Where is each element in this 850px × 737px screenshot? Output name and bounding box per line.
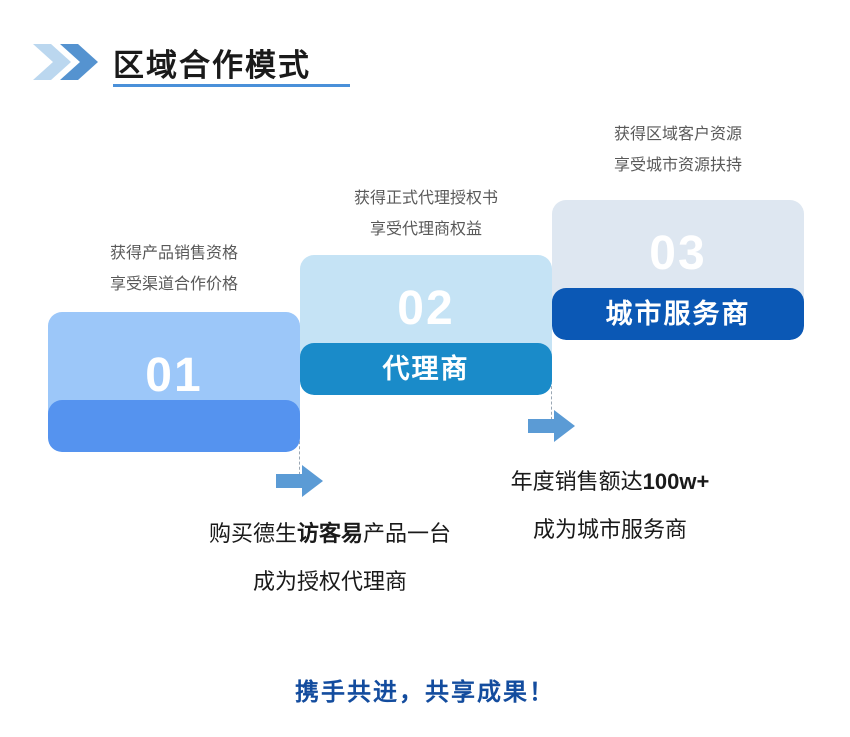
step-number: 03 bbox=[552, 230, 804, 278]
step-card-1[interactable]: 01 集成商 bbox=[48, 312, 300, 452]
caption-line-2: 享受代理商权益 bbox=[300, 214, 552, 245]
arrow-right-icon bbox=[528, 409, 576, 443]
double-chevron-right-icon bbox=[33, 42, 99, 82]
text-prefix: 购买德生 bbox=[209, 521, 297, 546]
arrow-right-icon bbox=[276, 464, 324, 498]
footer-slogan: 携手共进，共享成果！ bbox=[0, 672, 850, 707]
transition-text-2: 年度销售额达100w+ 成为城市服务商 bbox=[430, 458, 790, 554]
step-caption-1: 获得产品销售资格 享受渠道合作价格 bbox=[48, 238, 300, 300]
page-title: 区域合作模式 bbox=[113, 40, 311, 85]
step-card-2[interactable]: 02 代理商 bbox=[300, 255, 552, 395]
step-caption-2: 获得正式代理授权书 享受代理商权益 bbox=[300, 183, 552, 245]
step-caption-3: 获得区域客户资源 享受城市资源扶持 bbox=[552, 119, 804, 181]
text-highlight: 访客易 bbox=[297, 521, 363, 546]
header: 区域合作模式 bbox=[0, 0, 850, 110]
step-number: 02 bbox=[300, 285, 552, 333]
step-label: 城市服务商 bbox=[552, 301, 804, 328]
caption-line-2: 享受渠道合作价格 bbox=[48, 269, 300, 300]
title-underline bbox=[113, 84, 350, 87]
transition-line-1: 年度销售额达100w+ bbox=[430, 458, 790, 506]
infographic-root: 区域合作模式 获得区域客户资源 享受城市资源扶持 获得正式代理授权书 享受代理商… bbox=[0, 0, 850, 737]
step-label: 代理商 bbox=[300, 356, 552, 383]
caption-line-1: 获得区域客户资源 bbox=[552, 119, 804, 150]
step-card-3[interactable]: 03 城市服务商 bbox=[552, 200, 804, 340]
caption-line-2: 享受城市资源扶持 bbox=[552, 150, 804, 181]
transition-line-2: 成为授权代理商 bbox=[140, 558, 520, 606]
card-label-band bbox=[48, 400, 300, 452]
caption-line-1: 获得产品销售资格 bbox=[48, 238, 300, 269]
step-number: 01 bbox=[48, 352, 300, 400]
text-prefix: 年度销售额达 bbox=[511, 469, 643, 494]
caption-line-1: 获得正式代理授权书 bbox=[300, 183, 552, 214]
text-highlight: 100w+ bbox=[643, 469, 710, 494]
transition-line-2: 成为城市服务商 bbox=[430, 506, 790, 554]
